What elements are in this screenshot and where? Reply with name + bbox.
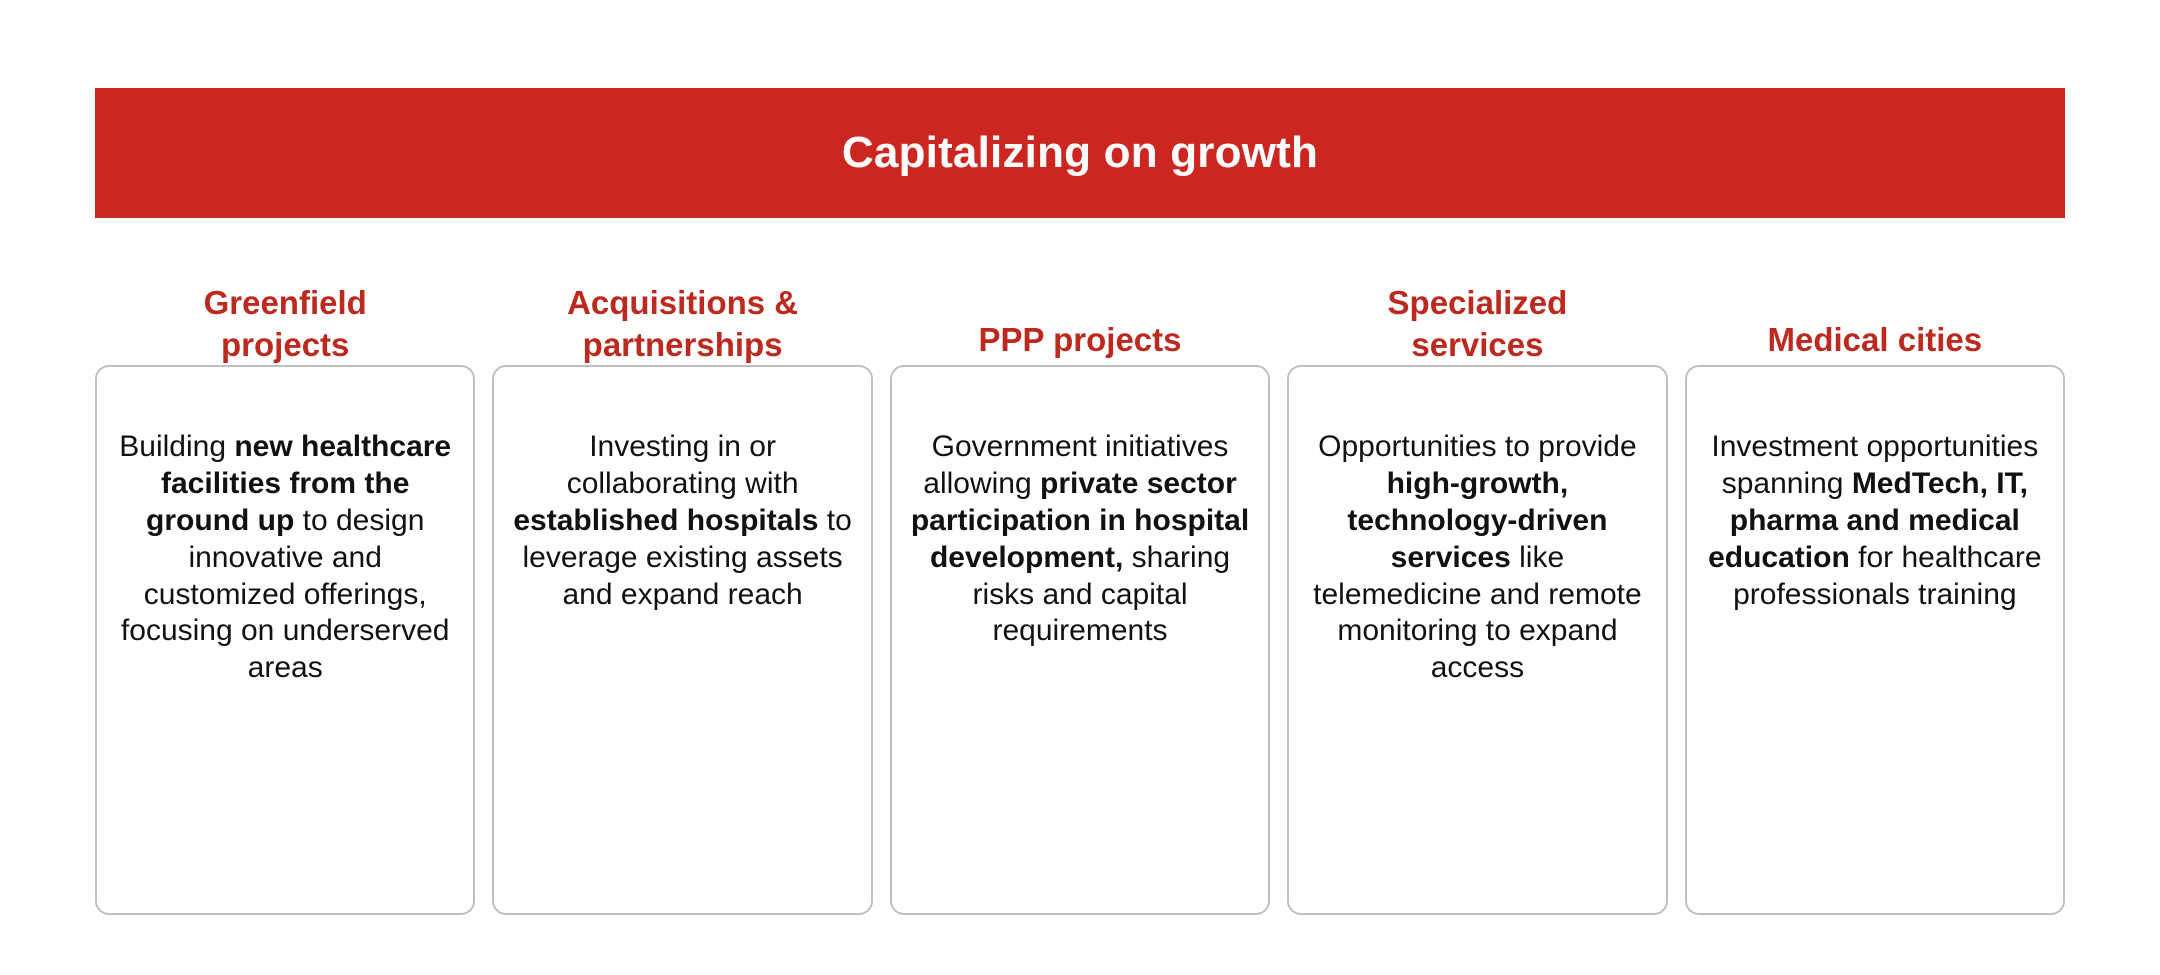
card-title-acquisitions-partnerships: Acquisitions &partnerships: [508, 282, 856, 366]
card-title-line: PPP projects: [969, 321, 1192, 358]
card-body-medical-cities: Investment opportunities spanning MedTec…: [1687, 429, 2063, 627]
card-title-greenfield-projects: Greenfieldprojects: [111, 282, 459, 366]
card-body-emphasis: established hospitals: [513, 504, 818, 537]
card-body-specialized-services: Opportunities to provide high-growth, te…: [1289, 429, 1665, 701]
card-ppp-projects: PPP projects Government initiatives allo…: [890, 365, 1270, 915]
card-title-line: Medical cities: [1758, 321, 1993, 358]
card-body-emphasis: high-growth, technology-driven services: [1347, 467, 1607, 574]
card-title-line: partnerships: [573, 326, 793, 363]
card-acquisitions-partnerships: Acquisitions &partnerships Investing in …: [492, 365, 872, 915]
card-body-text: Opportunities to provide: [1318, 430, 1637, 463]
card-title-line: Greenfield: [194, 284, 377, 321]
card-title-specialized-services: Specializedservices: [1303, 282, 1651, 366]
card-title-medical-cities: Medical cities: [1701, 319, 2049, 361]
card-title-line: projects: [211, 326, 359, 363]
card-body-text: Building: [119, 430, 234, 463]
card-body-text: Investing in or collaborating with: [567, 430, 799, 500]
card-body-acquisitions-partnerships: Investing in or collaborating with estab…: [494, 429, 870, 627]
card-body-ppp-projects: Government initiatives allowing private …: [892, 429, 1268, 664]
card-row: Greenfieldprojects Building new healthca…: [95, 365, 2065, 915]
card-title-line: services: [1401, 326, 1553, 363]
card-title-line: Acquisitions &: [557, 284, 808, 321]
card-title-ppp-projects: PPP projects: [906, 319, 1254, 361]
card-medical-cities: Medical cities Investment opportunities …: [1685, 365, 2065, 915]
page-banner: Capitalizing on growth: [95, 88, 2065, 218]
page-title: Capitalizing on growth: [842, 131, 1318, 175]
card-body-greenfield-projects: Building new healthcare facilities from …: [97, 429, 473, 701]
card-title-line: Specialized: [1378, 284, 1578, 321]
card-greenfield-projects: Greenfieldprojects Building new healthca…: [95, 365, 475, 915]
card-specialized-services: Specializedservices Opportunities to pro…: [1287, 365, 1667, 915]
